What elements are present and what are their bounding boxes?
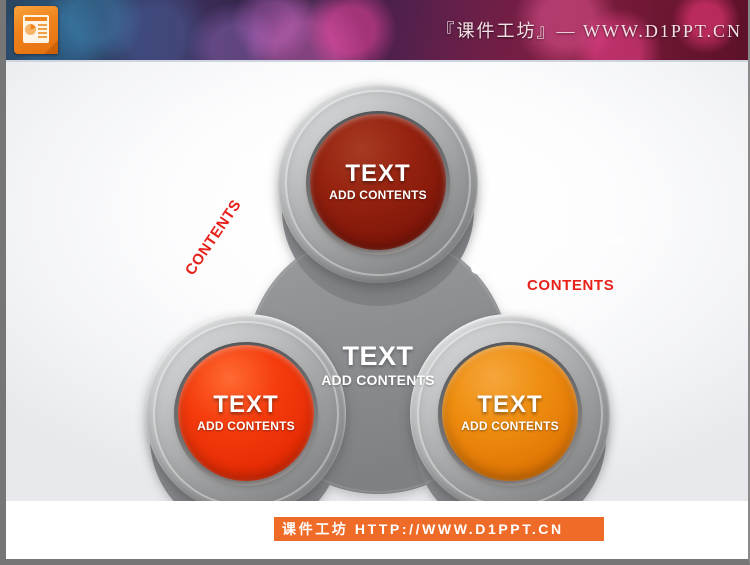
node-top-subtitle: ADD CONTENTS — [329, 188, 427, 202]
slide-frame: 『课件工坊』— WWW.D1PPT.CN — [0, 0, 750, 565]
logo-line — [38, 32, 47, 34]
node-bottom-left[interactable]: CONTENTS TEXT ADD CONTENTS — [146, 314, 346, 514]
node-bottom-left-core[interactable]: TEXT ADD CONTENTS — [178, 345, 314, 481]
header-banner: 『课件工坊』— WWW.D1PPT.CN — [6, 0, 750, 62]
logo-line — [38, 28, 47, 30]
logo-title-bar — [25, 17, 47, 21]
logo-line — [38, 24, 47, 26]
node-top-core[interactable]: TEXT ADD CONTENTS — [310, 114, 446, 250]
header-title: 『课件工坊』— WWW.D1PPT.CN — [437, 17, 743, 43]
node-bottom-left-title: TEXT — [213, 393, 278, 417]
node-top[interactable]: CONTENTS TEXT ADD CONTENTS — [278, 83, 478, 283]
node-bottom-left-subtitle: ADD CONTENTS — [197, 419, 295, 433]
logo-pie-chart-icon — [25, 24, 36, 35]
node-bottom-right-title: TEXT — [477, 393, 542, 417]
node-bottom-right[interactable]: CONTENTS TEXT ADD CONTENTS — [410, 314, 610, 514]
slide-canvas: CONTENTS TEXT ADD CONTENTS CONTENTS TEXT… — [6, 62, 750, 501]
powerpoint-document-icon — [14, 6, 62, 56]
logo-line — [38, 36, 47, 38]
node-top-title: TEXT — [345, 162, 410, 186]
node-bottom-right-core[interactable]: TEXT ADD CONTENTS — [442, 345, 578, 481]
node-bottom-right-subtitle: ADD CONTENTS — [461, 419, 559, 433]
footer: 课件工坊 HTTP://WWW.D1PPT.CN — [6, 501, 750, 559]
callout-right-label: CONTENTS — [527, 277, 614, 294]
footer-url-bar: 课件工坊 HTTP://WWW.D1PPT.CN — [274, 517, 604, 541]
footer-url-text: 课件工坊 HTTP://WWW.D1PPT.CN — [274, 519, 564, 539]
